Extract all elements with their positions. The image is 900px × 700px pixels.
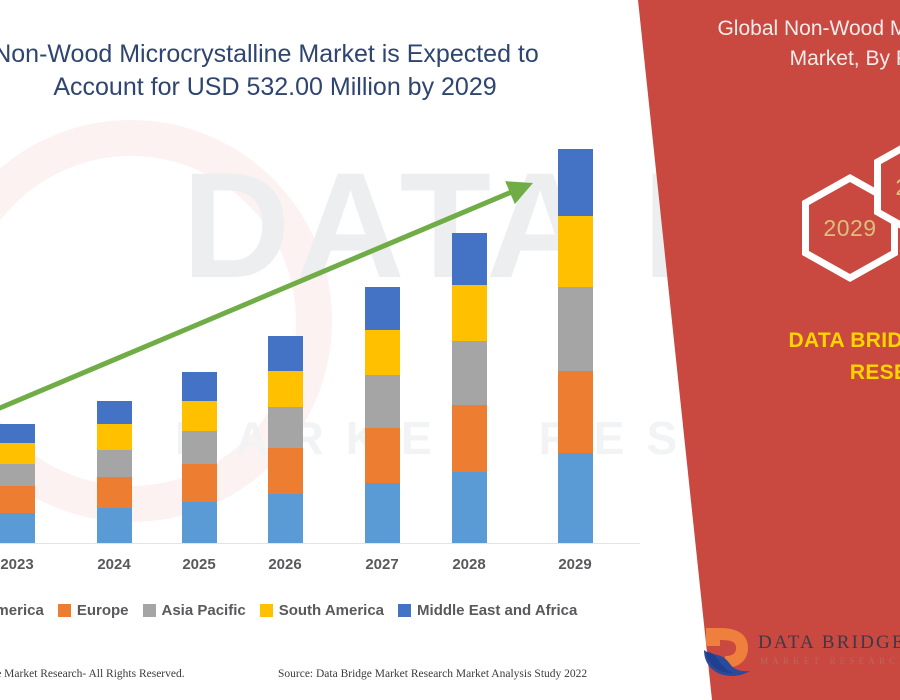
legend-item-asia-pacific[interactable]: Asia Pacific	[143, 602, 246, 619]
hexagon-badge-label: 2022	[895, 174, 900, 201]
legend-item-middle-east-and-africa[interactable]: Middle East and Africa	[398, 602, 577, 619]
stacked-bar-chart	[0, 130, 640, 545]
x-axis-label-2025: 2025	[169, 556, 229, 573]
page-title-line-2: Account for USD 532.00 Million by 2029	[0, 71, 566, 104]
panel-title-line-2: Market, By Region	[706, 44, 900, 74]
x-axis-label-2024: 2024	[84, 556, 144, 573]
x-axis-label-2023: 2023	[0, 556, 47, 573]
x-axis-label-2026: 2026	[255, 556, 315, 573]
chart-legend: North AmericaEuropeAsia PacificSouth Ame…	[0, 598, 562, 622]
logo-b-icon	[700, 626, 752, 678]
hexagon-badge-2022: 2022	[874, 133, 900, 241]
panel-brand-line-2: RESEARCH	[780, 357, 900, 389]
x-axis-label-2027: 2027	[352, 556, 412, 573]
page-title: Non-Wood Microcrystalline Market is Expe…	[0, 38, 566, 105]
x-axis-label-2029: 2029	[545, 556, 605, 573]
legend-swatch-icon	[260, 604, 273, 617]
x-axis-label-2028: 2028	[439, 556, 499, 573]
legend-label: Europe	[77, 602, 129, 619]
panel-brand-line-1: DATA BRIDGE MARKET	[780, 325, 900, 357]
footer: Bridge Market Research- All Rights Reser…	[0, 668, 640, 690]
data-bridge-logo: DATA BRIDGE MARKET RESEARCH	[700, 622, 900, 684]
legend-label: North America	[0, 602, 44, 619]
legend-item-south-america[interactable]: South America	[260, 602, 384, 619]
logo-subtitle: MARKET RESEARCH	[760, 656, 900, 666]
footer-source: Source: Data Bridge Market Research Mark…	[278, 668, 587, 680]
legend-swatch-icon	[143, 604, 156, 617]
legend-label: Middle East and Africa	[417, 602, 577, 619]
legend-label: South America	[279, 602, 384, 619]
page-title-line-1: Non-Wood Microcrystalline Market is Expe…	[0, 38, 566, 71]
panel-brand: DATA BRIDGE MARKET RESEARCH	[780, 325, 900, 388]
infographic-canvas: DATA BRIDGE MARKET RESEARCH Non-Wood Mic…	[0, 0, 900, 700]
x-axis-labels: 2023202420252026202720282029	[0, 556, 640, 578]
legend-item-north-america[interactable]: North America	[0, 602, 44, 619]
hexagon-badge-label: 2029	[823, 215, 876, 242]
legend-swatch-icon	[398, 604, 411, 617]
logo-title: DATA BRIDGE	[758, 632, 900, 654]
legend-label: Asia Pacific	[162, 602, 246, 619]
panel-title-line-1: Global Non-Wood Microcrystalline	[706, 14, 900, 44]
trend-arrow-icon	[0, 130, 640, 545]
panel-title: Global Non-Wood Microcrystalline Market,…	[706, 14, 900, 74]
legend-swatch-icon	[58, 604, 71, 617]
legend-item-europe[interactable]: Europe	[58, 602, 129, 619]
footer-copyright: Bridge Market Research- All Rights Reser…	[0, 668, 185, 680]
